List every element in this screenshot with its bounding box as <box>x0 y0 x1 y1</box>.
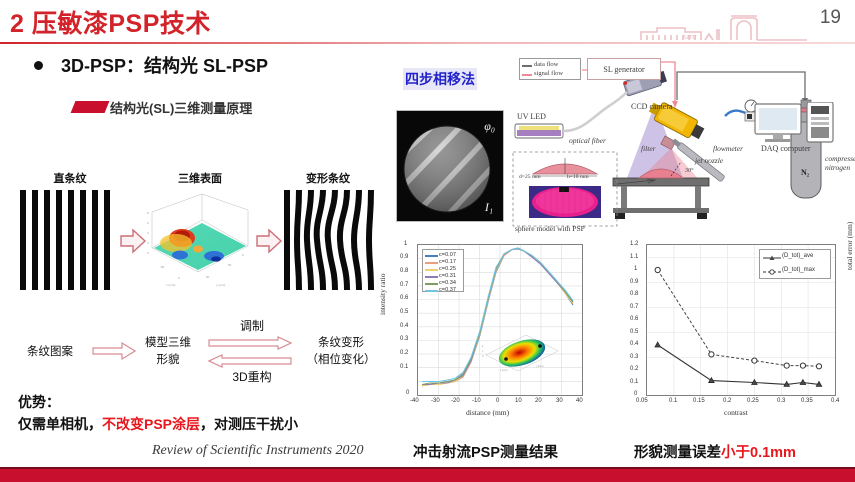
optical-fiber-label: optical fiber <box>569 136 606 145</box>
intensity-chart-legend: c=0.07 c=0.17 c=0.25 c=0.31 c=0.34 c=0.3… <box>422 249 464 292</box>
c2-xtick-1: 0.1 <box>669 398 677 404</box>
nozzle-angle-label: 30° <box>685 168 693 174</box>
flow-arrow-modulation-icon <box>208 336 292 350</box>
c2-xtick-3: 0.2 <box>723 398 731 404</box>
legend-swatch-2 <box>425 269 438 271</box>
svg-text:0: 0 <box>482 355 484 358</box>
phase-symbol: φ₀ <box>484 119 495 134</box>
legend-swatch-3 <box>425 276 438 278</box>
svg-text:2: 2 <box>482 345 484 348</box>
header-divider <box>0 42 855 44</box>
c2-xlabel: contrast <box>724 408 748 417</box>
c1-ytick-07: 0.7 <box>400 282 408 288</box>
c2-ytick-10: 1 <box>634 266 637 272</box>
c1-ytick-09: 0.9 <box>400 254 408 260</box>
slide-root: 2 压敏漆PSP技术 19 SJTU 3D-PSP：结构光 SL-PSP 结构光… <box>0 0 855 482</box>
nitrogen-symbol: N₂ <box>801 168 809 177</box>
c1-xtick-3: -10 <box>472 398 481 404</box>
c1-xtick-2: -20 <box>451 398 460 404</box>
uv-led-label: UV LED <box>517 112 546 121</box>
advantage-post: ，对测压干扰小 <box>200 416 298 432</box>
deformed-fringes-image <box>282 190 382 290</box>
c1-xlabel: distance (mm) <box>466 408 509 417</box>
straight-fringes-image <box>18 190 118 290</box>
arrow-right-2-icon <box>255 228 283 254</box>
flowmeter-label: flowmeter <box>713 144 743 153</box>
c2-ylabel: total error (mm) <box>845 222 854 270</box>
data-flow-label: data flow <box>534 61 558 68</box>
legend-label-ave: (D_tot)_ave <box>782 253 813 259</box>
legend-swatch-0 <box>425 255 438 257</box>
sphere-model-label: sphere model with PSP <box>515 224 585 233</box>
flow-arrow-1-icon <box>92 342 136 360</box>
c2-xtick-5: 0.3 <box>777 398 785 404</box>
legend-label-max: (D_tot)_max <box>782 267 815 273</box>
svg-text:x (mm): x (mm) <box>500 369 508 372</box>
c2-xtick-2: 0.15 <box>693 398 705 404</box>
c2-ytick-0: 0 <box>634 391 637 397</box>
legend-label-4: c=0.34 <box>439 280 456 286</box>
legend-label-3: c=0.31 <box>439 273 456 279</box>
panel-label-surface-3d: 三维表面 <box>152 170 248 186</box>
c2-ytick-04: 0.4 <box>630 341 638 347</box>
c2-ytick-12: 1.2 <box>630 241 638 247</box>
c2-ytick-07: 0.7 <box>630 304 638 310</box>
c1-ytick-08: 0.8 <box>400 268 408 274</box>
c2-ytick-02: 0.2 <box>630 366 638 372</box>
bullet-row: 3D-PSP：结构光 SL-PSP <box>30 52 400 80</box>
c1-ytick-04: 0.4 <box>400 323 408 329</box>
flow-node-fringe-deform-line1: 条纹变形 <box>296 336 386 350</box>
legend-swatch-1 <box>425 262 438 264</box>
sphere-fringe-image: φ₀ I₁ <box>396 110 504 222</box>
c1-ytick-0: 0 <box>406 390 409 396</box>
legend-label-5: c=0.37 <box>439 287 456 293</box>
svg-text:50: 50 <box>206 275 210 279</box>
page-title: 2 压敏漆PSP技术 <box>10 4 211 40</box>
c1-xtick-7: 30 <box>556 398 563 404</box>
c2-ytick-11: 1.1 <box>630 254 638 260</box>
c2-ytick-09: 0.9 <box>630 279 638 285</box>
panel-label-straight-fringes: 直条纹 <box>22 170 118 186</box>
c1-xtick-0: -40 <box>410 398 419 404</box>
four-step-phase-shift-label: 四步相移法 <box>403 68 477 90</box>
bullet-label: 3D-PSP：结构光 SL-PSP <box>61 52 268 78</box>
advantage-highlight: 不改变PSP涂层 <box>102 416 200 432</box>
daq-computer-label: DAQ computer <box>761 144 811 153</box>
c1-ytick-1: 1 <box>404 241 407 247</box>
c1-ytick-01: 0.1 <box>400 364 408 370</box>
c1-xtick-4: 0 <box>496 398 499 404</box>
sphere-diameter-label: d=25 mm <box>519 174 541 180</box>
c2-xtick-4: 0.25 <box>747 398 759 404</box>
jet-nozzle-label: jet nozzle <box>695 156 723 165</box>
caption-right: 形貌测量误差小于0.1mm <box>634 441 796 462</box>
flow-arrow-bottom-label: 3D重构 <box>212 370 292 385</box>
legend-marker-ave-icon <box>763 255 781 261</box>
caption-right-pre: 形貌测量误差 <box>634 445 721 461</box>
c2-ytick-03: 0.3 <box>630 354 638 360</box>
legend-marker-max-icon <box>763 269 781 275</box>
filter-label: filter <box>641 144 656 153</box>
advantage-label: 优势： <box>18 392 60 412</box>
c1-ytick-06: 0.6 <box>400 295 408 301</box>
legend-label-2: c=0.25 <box>439 266 456 272</box>
error-vs-contrast-chart: (D_tot)_ave (D_tot)_max <box>646 244 836 396</box>
sphere-height-label: h=10 mm <box>567 174 589 180</box>
c2-ytick-08: 0.8 <box>630 291 638 297</box>
advantage-pre: 仅需单相机， <box>18 416 102 432</box>
error-chart-legend: (D_tot)_ave (D_tot)_max <box>759 249 831 279</box>
sl-generator-box: SL generator <box>587 58 661 80</box>
legend-label-1: c=0.17 <box>439 259 456 265</box>
intensity-ratio-chart: 210 x (mm)y (mm) c=0.07 c=0.17 c=0.25 c=… <box>417 244 583 396</box>
c1-xtick-1: -30 <box>431 398 440 404</box>
ccd-camera-label: CCD camera <box>631 102 673 111</box>
intensity-symbol: I₁ <box>485 200 493 215</box>
svg-text:SJTU: SJTU <box>683 35 697 41</box>
data-flow-line-icon <box>522 65 532 67</box>
flow-legend-box: data flow signal flow <box>519 58 581 80</box>
legend-label-0: c=0.07 <box>439 252 456 258</box>
caption-right-highlight: 小于0.1mm <box>721 445 796 461</box>
c1-xtick-8: 40 <box>576 398 583 404</box>
daq-computer-icon <box>753 102 839 144</box>
advantage-text: 仅需单相机，不改变PSP涂层，对测压干扰小 <box>18 414 298 434</box>
skyline-decoration-icon: SJTU <box>639 8 809 42</box>
c2-ytick-01: 0.1 <box>630 379 638 385</box>
journal-citation: Review of Scientific Instruments 2020 <box>152 443 364 459</box>
flow-node-fringe-deform-line2: （相位变化） <box>296 353 386 367</box>
svg-text:y (mm): y (mm) <box>216 283 225 287</box>
bottom-bar <box>0 469 855 482</box>
flow-node-model-shape-line1: 模型三维 <box>132 336 204 350</box>
c2-xtick-6: 0.35 <box>801 398 813 404</box>
flow-node-model-shape-line2: 形貌 <box>132 353 204 367</box>
svg-text:1: 1 <box>482 350 484 353</box>
c1-xtick-5: 10 <box>515 398 522 404</box>
c1-ytick-02: 0.2 <box>400 350 408 356</box>
flow-arrow-reconstruction-icon <box>208 354 292 368</box>
c2-ytick-06: 0.6 <box>630 316 638 322</box>
legend-swatch-5 <box>425 290 438 292</box>
caption-left: 冲击射流PSP测量结果 <box>413 441 558 462</box>
uv-led-icon <box>515 124 563 138</box>
bullet-dot-icon <box>34 61 43 70</box>
c2-xtick-0: 0.05 <box>636 398 648 404</box>
compressed-nitrogen-label: compressed nitrogen <box>825 154 855 172</box>
svg-text:y (mm): y (mm) <box>536 365 544 368</box>
c1-ylabel: intensity ratio <box>378 274 387 315</box>
flow-node-fringe-pattern: 条纹图案 <box>14 345 86 359</box>
page-number: 19 <box>820 7 841 29</box>
left-subtitle: 结构光(SL)三维测量原理 <box>110 98 252 117</box>
experimental-setup-diagram: data flow signal flow SL generator CCD c… <box>505 56 855 236</box>
svg-text:50: 50 <box>228 263 232 267</box>
flow-arrow-top-label: 调制 <box>212 319 292 334</box>
c1-xtick-6: 20 <box>535 398 542 404</box>
c2-xtick-7: 0.4 <box>831 398 839 404</box>
svg-text:-50: -50 <box>160 265 165 269</box>
signal-flow-label: signal flow <box>534 70 563 77</box>
signal-flow-line-icon <box>522 74 532 76</box>
legend-swatch-4 <box>425 283 438 285</box>
red-parallelogram-marker-icon <box>71 101 110 113</box>
c2-ytick-05: 0.5 <box>630 329 638 335</box>
c1-ytick-05: 0.5 <box>400 309 408 315</box>
c1-ytick-03: 0.3 <box>400 336 408 342</box>
panel-label-deformed-fringes: 变形条纹 <box>280 170 376 186</box>
arrow-right-1-icon <box>119 228 147 254</box>
surface-3d-plot: 864 20 -50050 500 x (mm)y (mm) <box>146 186 254 294</box>
slide-header: 2 压敏漆PSP技术 19 SJTU <box>0 0 855 44</box>
svg-text:x (mm): x (mm) <box>166 283 175 287</box>
